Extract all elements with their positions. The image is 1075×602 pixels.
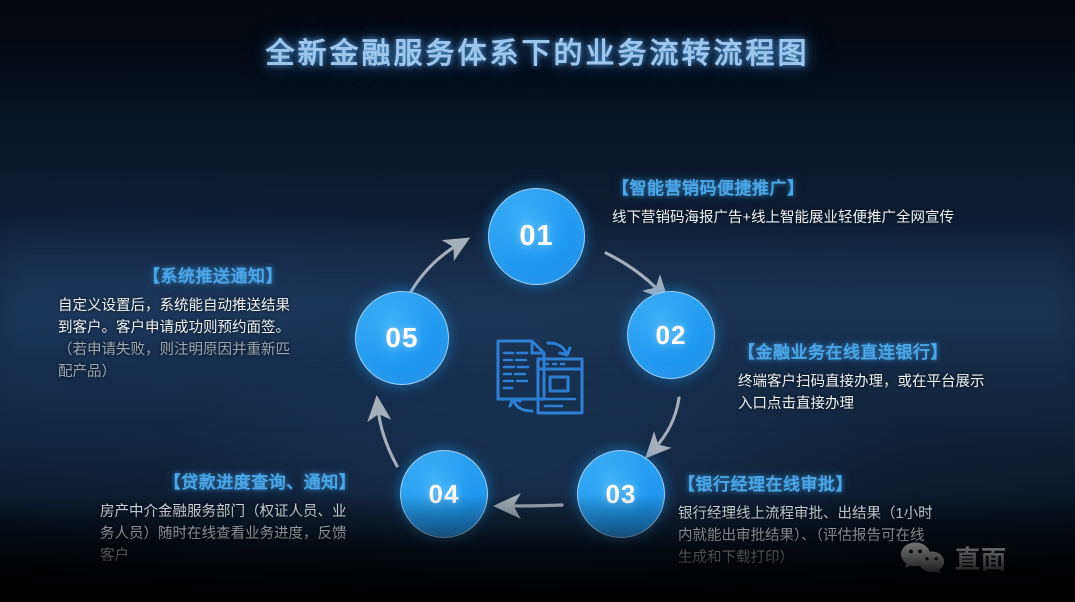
step-body-note-line: （若申请失败，则注明原因并重新匹 xyxy=(58,339,368,361)
step-circle-05[interactable]: 05 xyxy=(355,291,449,385)
document-to-web-conversion-icon xyxy=(492,333,588,421)
wechat-logo-icon xyxy=(900,541,946,575)
brand-name: 直面 xyxy=(955,540,1007,576)
step-text-01: 【智能营销码便捷推广】 线下营销码海报广告+线上智能展业轻便推广全网宣传 xyxy=(612,174,1012,229)
step-circle-03[interactable]: 03 xyxy=(577,450,665,538)
arrow-03-to-04 xyxy=(507,505,562,506)
step-body-line: 入口点击直接办理 xyxy=(738,393,1038,415)
step-body-05: 自定义设置后，系统能自动推送结果 到客户。客户申请成功则预约面签。 （若申请失败… xyxy=(58,295,368,383)
step-text-04: 【贷款进度查询、通知】 房产中介金融服务部门（权证人员、业 务人员）随时在线查看… xyxy=(100,468,420,567)
brand-watermark: 直面 xyxy=(900,540,1007,576)
slide-canvas: 全新金融服务体系下的业务流转流程图 xyxy=(0,0,1075,602)
step-heading-04: 【贷款进度查询、通知】 xyxy=(100,468,420,493)
step-body-line: 房产中介金融服务部门（权证人员、业 xyxy=(100,501,420,523)
step-body-line: 务人员）随时在线查看业务进度，反馈 xyxy=(100,523,420,545)
arrow-04-to-05 xyxy=(378,408,397,466)
step-heading-02: 【金融业务在线直连银行】 xyxy=(738,338,1038,363)
step-heading-05: 【系统推送通知】 xyxy=(58,262,368,287)
step-circle-02[interactable]: 02 xyxy=(627,291,715,379)
step-body-line: 自定义设置后，系统能自动推送结果 xyxy=(58,295,368,317)
step-body-line: 终端客户扫码直接办理，或在平台展示 xyxy=(738,371,1038,393)
step-body-line: 到客户。客户申请成功则预约面签。 xyxy=(58,317,368,339)
step-text-05: 【系统推送通知】 自定义设置后，系统能自动推送结果 到客户。客户申请成功则预约面… xyxy=(58,262,368,383)
arrow-01-to-02 xyxy=(606,253,660,292)
step-text-02: 【金融业务在线直连银行】 终端客户扫码直接办理，或在平台展示 入口点击直接办理 xyxy=(738,338,1038,415)
step-heading-03: 【银行经理在线审批】 xyxy=(678,470,1008,495)
step-body-02: 终端客户扫码直接办理，或在平台展示 入口点击直接办理 xyxy=(738,371,1038,415)
step-body-04: 房产中介金融服务部门（权证人员、业 务人员）随时在线查看业务进度，反馈 客户 xyxy=(100,501,420,567)
step-circle-01[interactable]: 01 xyxy=(488,188,585,285)
page-title: 全新金融服务体系下的业务流转流程图 xyxy=(0,30,1075,72)
arrow-02-to-03 xyxy=(654,398,679,449)
step-body-line: 客户 xyxy=(100,545,420,567)
step-body-01: 线下营销码海报广告+线上智能展业轻便推广全网宣传 xyxy=(612,207,1012,229)
step-body-line: 线下营销码海报广告+线上智能展业轻便推广全网宣传 xyxy=(612,207,1012,229)
step-body-note-line: 配产品） xyxy=(58,361,368,383)
step-heading-01: 【智能营销码便捷推广】 xyxy=(612,174,1012,199)
step-body-line: 银行经理线上流程审批、出结果（1小时 xyxy=(678,503,1008,525)
